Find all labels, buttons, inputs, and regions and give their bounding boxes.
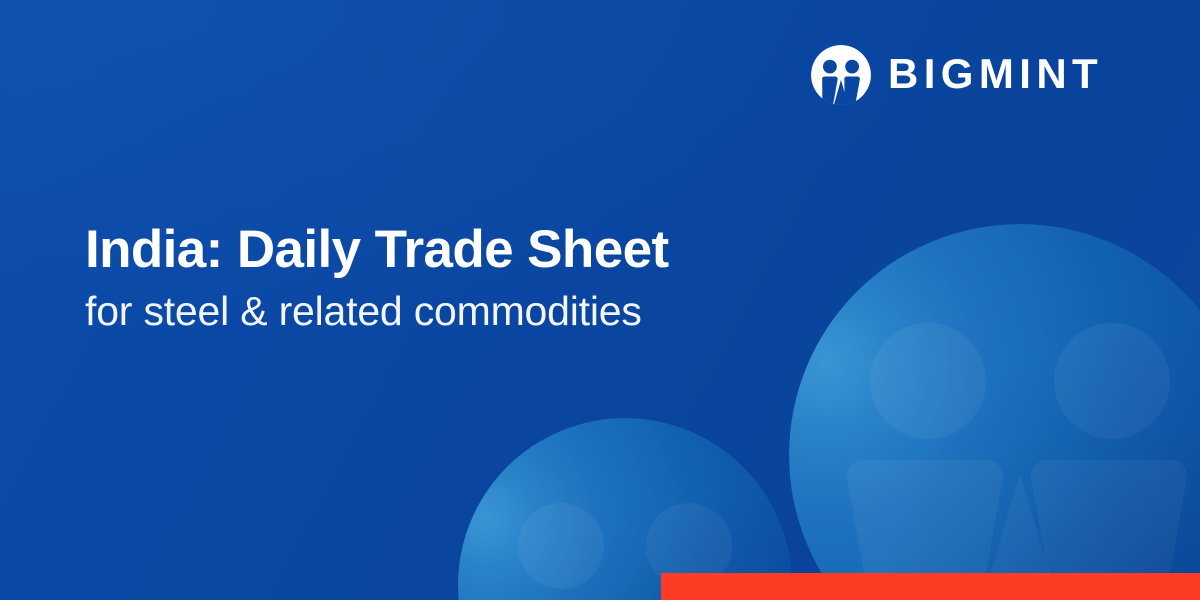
page-subtitle: for steel & related commodities (85, 289, 785, 334)
bottom-accent-bar (661, 573, 1200, 600)
hero-text-block: India: Daily Trade Sheet for steel & rel… (85, 222, 785, 334)
brand-wordmark: BIGMINT (888, 53, 1103, 97)
bigmint-logo-mark-icon (811, 45, 871, 105)
banner-root: BIGMINT India: Daily Trade Sheet for ste… (0, 0, 1200, 600)
page-title: India: Daily Trade Sheet (85, 222, 785, 278)
brand-logo-lockup[interactable]: BIGMINT (811, 45, 1103, 105)
large-watermark-sphere (789, 224, 1200, 600)
